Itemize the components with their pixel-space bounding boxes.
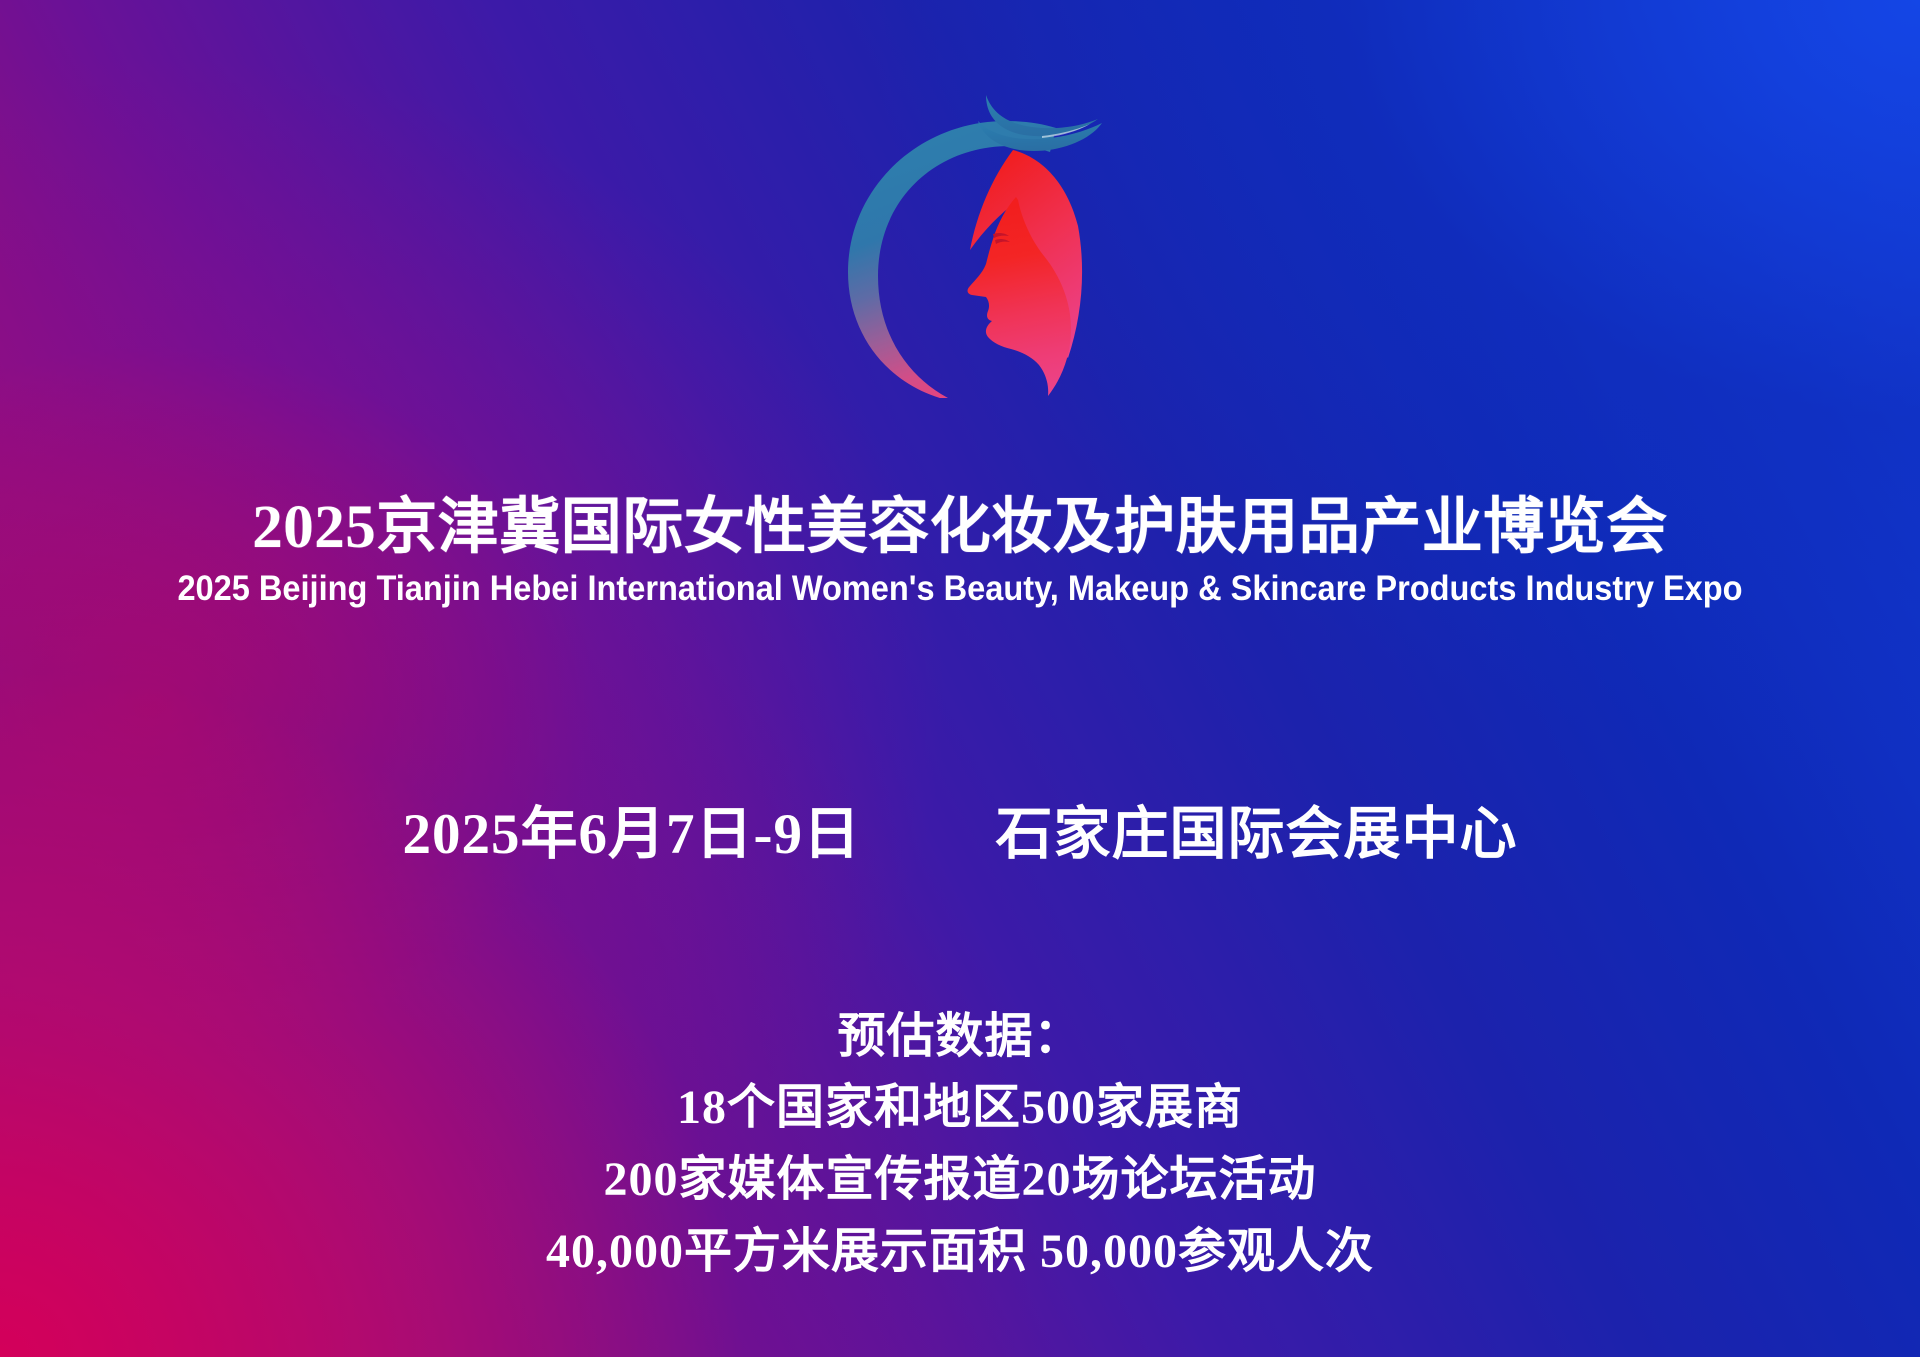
expo-poster: 2025京津冀国际女性美容化妆及护肤用品产业博览会 2025 Beijing T…: [0, 0, 1920, 1357]
page-title-english: 2025 Beijing Tianjin Hebei International…: [67, 568, 1853, 610]
logo-container: [0, 58, 1920, 398]
estimated-stats-block: 预估数据： 18个国家和地区500家展商 200家媒体宣传报道20场论坛活动 4…: [0, 1002, 1920, 1288]
stats-line-area-visitors: 40,000平方米展示面积 50,000参观人次: [0, 1216, 1920, 1288]
beauty-expo-logo-icon: [810, 58, 1110, 398]
page-title-chinese: 2025京津冀国际女性美容化妆及护肤用品产业博览会: [0, 492, 1920, 564]
stats-line-exhibitors: 18个国家和地区500家展商: [0, 1072, 1920, 1144]
date-venue-row: 2025年6月7日-9日 石家庄国际会展中心: [0, 800, 1920, 870]
event-date: 2025年6月7日-9日: [403, 803, 861, 866]
stats-line-media: 200家媒体宣传报道20场论坛活动: [0, 1144, 1920, 1216]
stats-heading: 预估数据：: [0, 1002, 1920, 1072]
event-venue: 石家庄国际会展中心: [995, 803, 1517, 866]
title-block: 2025京津冀国际女性美容化妆及护肤用品产业博览会 2025 Beijing T…: [0, 492, 1920, 610]
